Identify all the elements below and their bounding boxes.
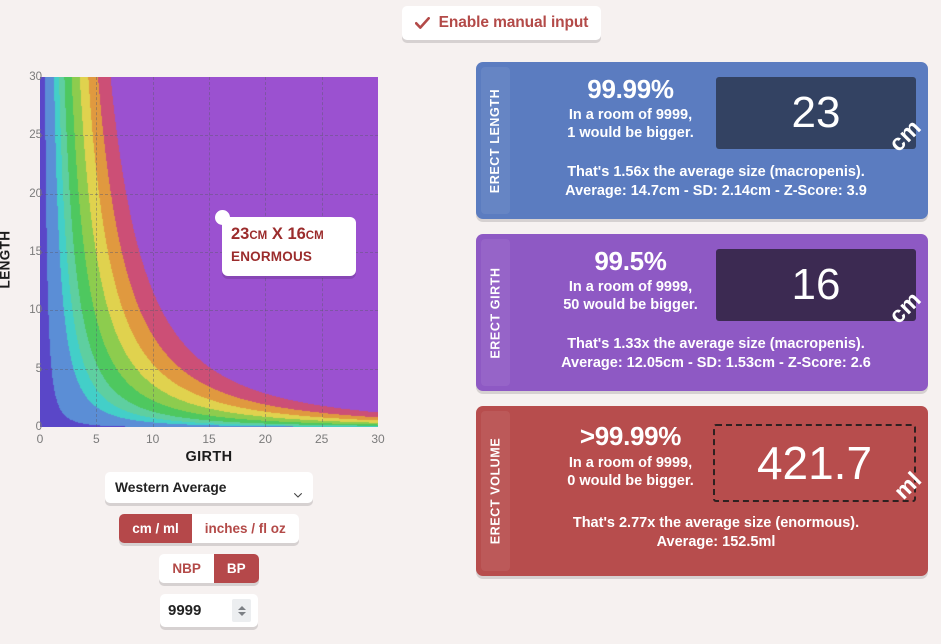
chart-x-tick: 30 xyxy=(358,432,398,446)
chart-y-tick: 20 xyxy=(8,188,42,200)
check-icon xyxy=(415,17,430,30)
size-chart: LENGTH GIRTH 051015202530 051015202530 2… xyxy=(0,60,410,470)
chart-x-tick: 0 xyxy=(20,432,60,446)
chart-controls: Western Average cm / ml inches / fl oz N… xyxy=(0,472,418,638)
length-footnote: That's 1.56x the average size (macropeni… xyxy=(512,163,920,201)
dataset-select-value: Western Average xyxy=(115,480,226,495)
volume-percentile: >99.99% xyxy=(518,421,743,452)
result-card-length: ERECT LENGTH 99.99% In a room of 9999,1 … xyxy=(476,62,928,219)
card-side-label: ERECT LENGTH xyxy=(481,62,510,219)
chart-y-tick: 15 xyxy=(8,246,42,258)
chart-tooltip: 23CM X 16CM ENORMOUS xyxy=(222,217,356,276)
chart-tooltip-size: 23CM X 16CM xyxy=(231,225,356,244)
room-size-input[interactable]: 9999 xyxy=(160,594,258,627)
chart-y-tick: 10 xyxy=(8,304,42,316)
chart-y-tick: 25 xyxy=(8,129,42,141)
chart-y-axis-label: LENGTH xyxy=(0,231,12,289)
chart-x-tick: 25 xyxy=(302,432,342,446)
units-toggle[interactable]: cm / ml inches / fl oz xyxy=(119,514,299,543)
result-card-volume: ERECT VOLUME >99.99% In a room of 9999,0… xyxy=(476,406,928,576)
girth-room-text: In a room of 9999,50 would be bigger. xyxy=(518,279,743,314)
chart-x-tick: 20 xyxy=(245,432,285,446)
chart-y-tick: 30 xyxy=(8,71,42,83)
measure-type-option-nbp[interactable]: NBP xyxy=(159,554,214,583)
girth-percentile: 99.5% xyxy=(518,246,743,277)
chart-x-tick: 5 xyxy=(76,432,116,446)
volume-footnote: That's 2.77x the average size (enormous)… xyxy=(512,514,920,552)
chart-x-tick: 10 xyxy=(133,432,173,446)
girth-footnote: That's 1.33x the average size (macropeni… xyxy=(512,335,920,373)
chart-y-tick: 5 xyxy=(8,363,42,375)
spinner-arrows-icon[interactable] xyxy=(232,599,251,622)
units-option-cm[interactable]: cm / ml xyxy=(119,514,192,543)
chart-x-axis-label: GIRTH xyxy=(40,449,378,465)
room-size-value: 9999 xyxy=(168,602,201,619)
length-room-text: In a room of 9999,1 would be bigger. xyxy=(518,107,743,142)
chart-tooltip-category: ENORMOUS xyxy=(231,249,356,264)
volume-value-box: 421.7 xyxy=(713,424,916,502)
chart-marker-dot[interactable] xyxy=(215,210,230,225)
chevron-down-icon xyxy=(294,485,302,490)
volume-room-text: In a room of 9999,0 would be bigger. xyxy=(518,455,743,490)
result-card-girth: ERECT GIRTH 99.5% In a room of 9999,50 w… xyxy=(476,234,928,391)
measure-type-toggle[interactable]: NBP BP xyxy=(159,554,258,583)
measure-type-option-bp[interactable]: BP xyxy=(214,554,259,583)
card-side-label: ERECT GIRTH xyxy=(481,234,510,391)
units-option-inches[interactable]: inches / fl oz xyxy=(192,514,299,543)
card-side-label: ERECT VOLUME xyxy=(481,406,510,576)
enable-manual-input-button[interactable]: Enable manual input xyxy=(402,6,601,40)
chart-x-tick: 15 xyxy=(189,432,229,446)
dataset-select[interactable]: Western Average xyxy=(105,472,313,503)
enable-manual-input-label: Enable manual input xyxy=(439,14,589,32)
length-percentile: 99.99% xyxy=(518,74,743,105)
